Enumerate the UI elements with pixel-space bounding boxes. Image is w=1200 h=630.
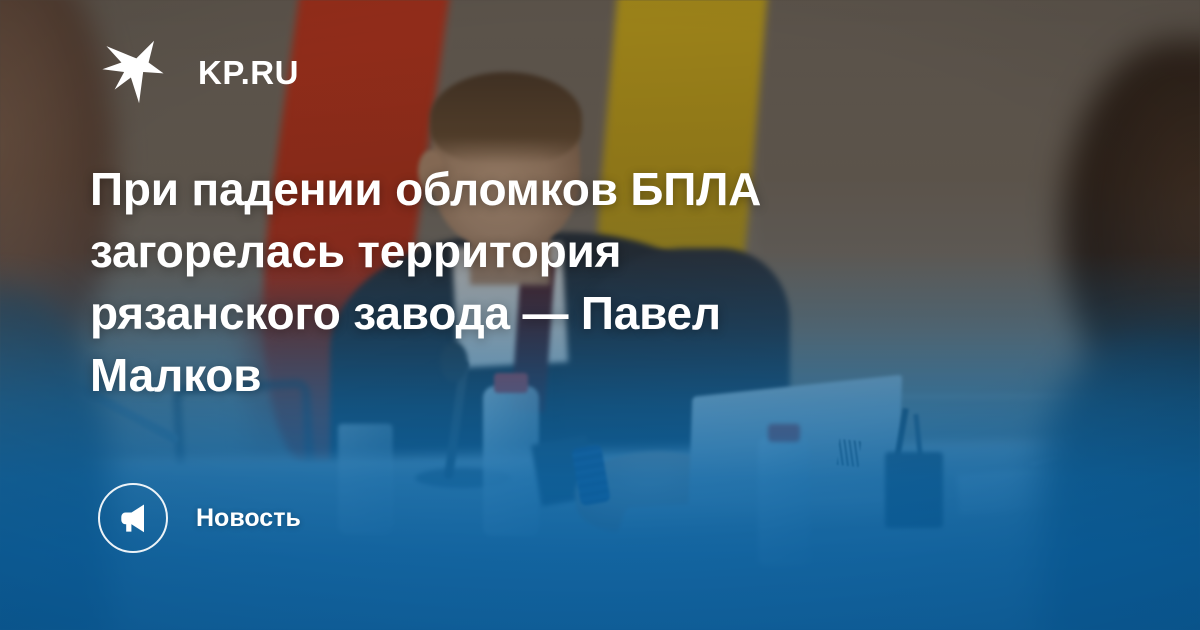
headline-line-4: Малков [90, 344, 970, 406]
swallow-bird-icon [100, 38, 170, 106]
news-share-card: KP.RU При падении обломков БПЛА загорела… [0, 0, 1200, 630]
megaphone-icon [98, 483, 168, 553]
status-badge: Новость [98, 483, 301, 553]
status-badge-label: Новость [196, 506, 301, 531]
card-content: KP.RU При падении обломков БПЛА загорела… [0, 0, 1200, 630]
headline-line-2: загорелась территория [90, 220, 970, 282]
page-title: При падении обломков БПЛА загорелась тер… [90, 158, 970, 406]
brand-lockup[interactable]: KP.RU [100, 38, 299, 106]
headline-line-1: При падении обломков БПЛА [90, 158, 970, 220]
headline-line-3: рязанского завода — Павел [90, 282, 970, 344]
brand-name: KP.RU [198, 56, 299, 89]
